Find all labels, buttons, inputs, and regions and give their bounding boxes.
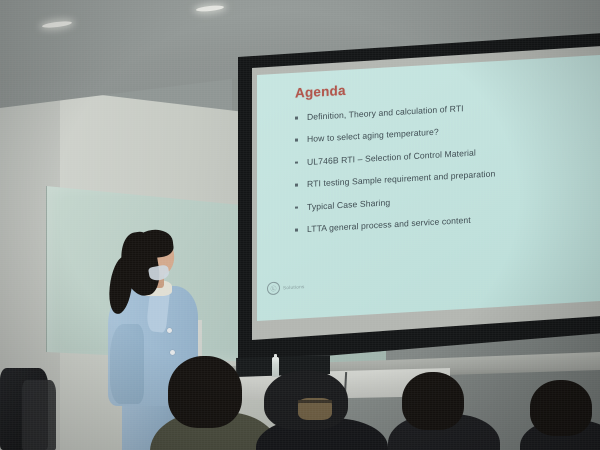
list-item: UL746B RTI – Selection of Control Materi… bbox=[293, 141, 593, 168]
slide-logo: Ⓛ Solutions bbox=[267, 280, 305, 295]
cap-strap bbox=[298, 400, 332, 403]
list-item: Typical Case Sharing bbox=[293, 186, 593, 213]
coat-button bbox=[170, 350, 175, 355]
presentation-photo: Agenda Definition, Theory and calculatio… bbox=[0, 0, 600, 450]
logo-text: Solutions bbox=[283, 284, 305, 290]
baseball-cap bbox=[264, 370, 348, 430]
chair bbox=[22, 380, 56, 450]
coat-button bbox=[167, 328, 172, 333]
logo-mark-icon: Ⓛ bbox=[267, 281, 280, 295]
attendee bbox=[388, 372, 498, 450]
slide-title: Agenda bbox=[295, 83, 346, 101]
attendee-head bbox=[168, 356, 242, 428]
attendee-head bbox=[530, 380, 592, 436]
attendee-head bbox=[402, 372, 464, 430]
attendee bbox=[520, 380, 600, 450]
list-item: LTTA general process and service content bbox=[293, 208, 593, 235]
list-item: How to select aging temperature? bbox=[293, 118, 593, 145]
presenter-sleeve bbox=[110, 324, 144, 404]
agenda-bullet-list: Definition, Theory and calculation of RT… bbox=[293, 96, 593, 247]
attendee bbox=[256, 370, 386, 450]
presentation-slide: Agenda Definition, Theory and calculatio… bbox=[253, 55, 600, 327]
face-mask bbox=[148, 264, 170, 281]
list-item: Definition, Theory and calculation of RT… bbox=[293, 96, 593, 123]
list-item: RTI testing Sample requirement and prepa… bbox=[293, 163, 593, 190]
